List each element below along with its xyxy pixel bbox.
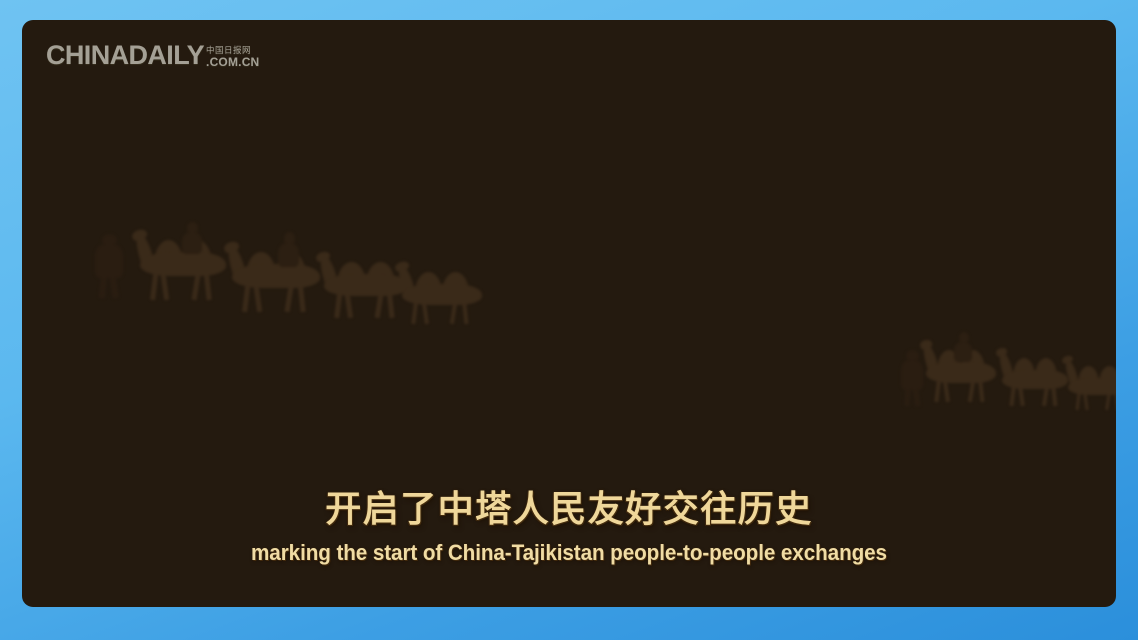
watermark-brand-cn: 中国日报网	[206, 46, 259, 55]
subtitle-block: 开启了中塔人民友好交往历史 marking the start of China…	[22, 489, 1116, 565]
watermark-brand: CHINADAILY	[46, 42, 204, 69]
caravan-right	[882, 320, 1116, 410]
caravan-guide-leg	[99, 274, 107, 298]
camel-silhouette	[232, 250, 320, 312]
subtitle-chinese: 开启了中塔人民友好交往历史	[22, 489, 1116, 530]
watermark-domain: .COM.CN	[206, 56, 259, 68]
video-stage[interactable]: CHINADAILY 中国日报网 .COM.CN 开启了中塔人民友好交往历史 m…	[22, 20, 1116, 607]
camel-rider-body	[954, 342, 972, 362]
camel-rider-body	[278, 243, 299, 267]
caravan-guide-leg	[904, 386, 911, 406]
watermark-side: 中国日报网 .COM.CN	[206, 46, 259, 69]
camel-silhouette	[1002, 356, 1068, 406]
video-player: CHINADAILY 中国日报网 .COM.CN 开启了中塔人民友好交往历史 m…	[0, 0, 1138, 640]
far-dune-left	[22, 20, 634, 38]
camel-rider-body	[182, 232, 202, 254]
camel-silhouette	[402, 270, 482, 324]
caravan-guide-body	[95, 244, 123, 278]
camel-silhouette	[1068, 364, 1116, 410]
caravan-left	[62, 216, 482, 316]
chinadaily-watermark: CHINADAILY 中国日报网 .COM.CN	[46, 42, 259, 69]
far-dune-right	[416, 20, 1116, 26]
far-dune-far-right	[678, 20, 1116, 25]
far-dune-mid	[22, 20, 1116, 37]
subtitle-english: marking the start of China-Tajikistan pe…	[55, 540, 1083, 565]
